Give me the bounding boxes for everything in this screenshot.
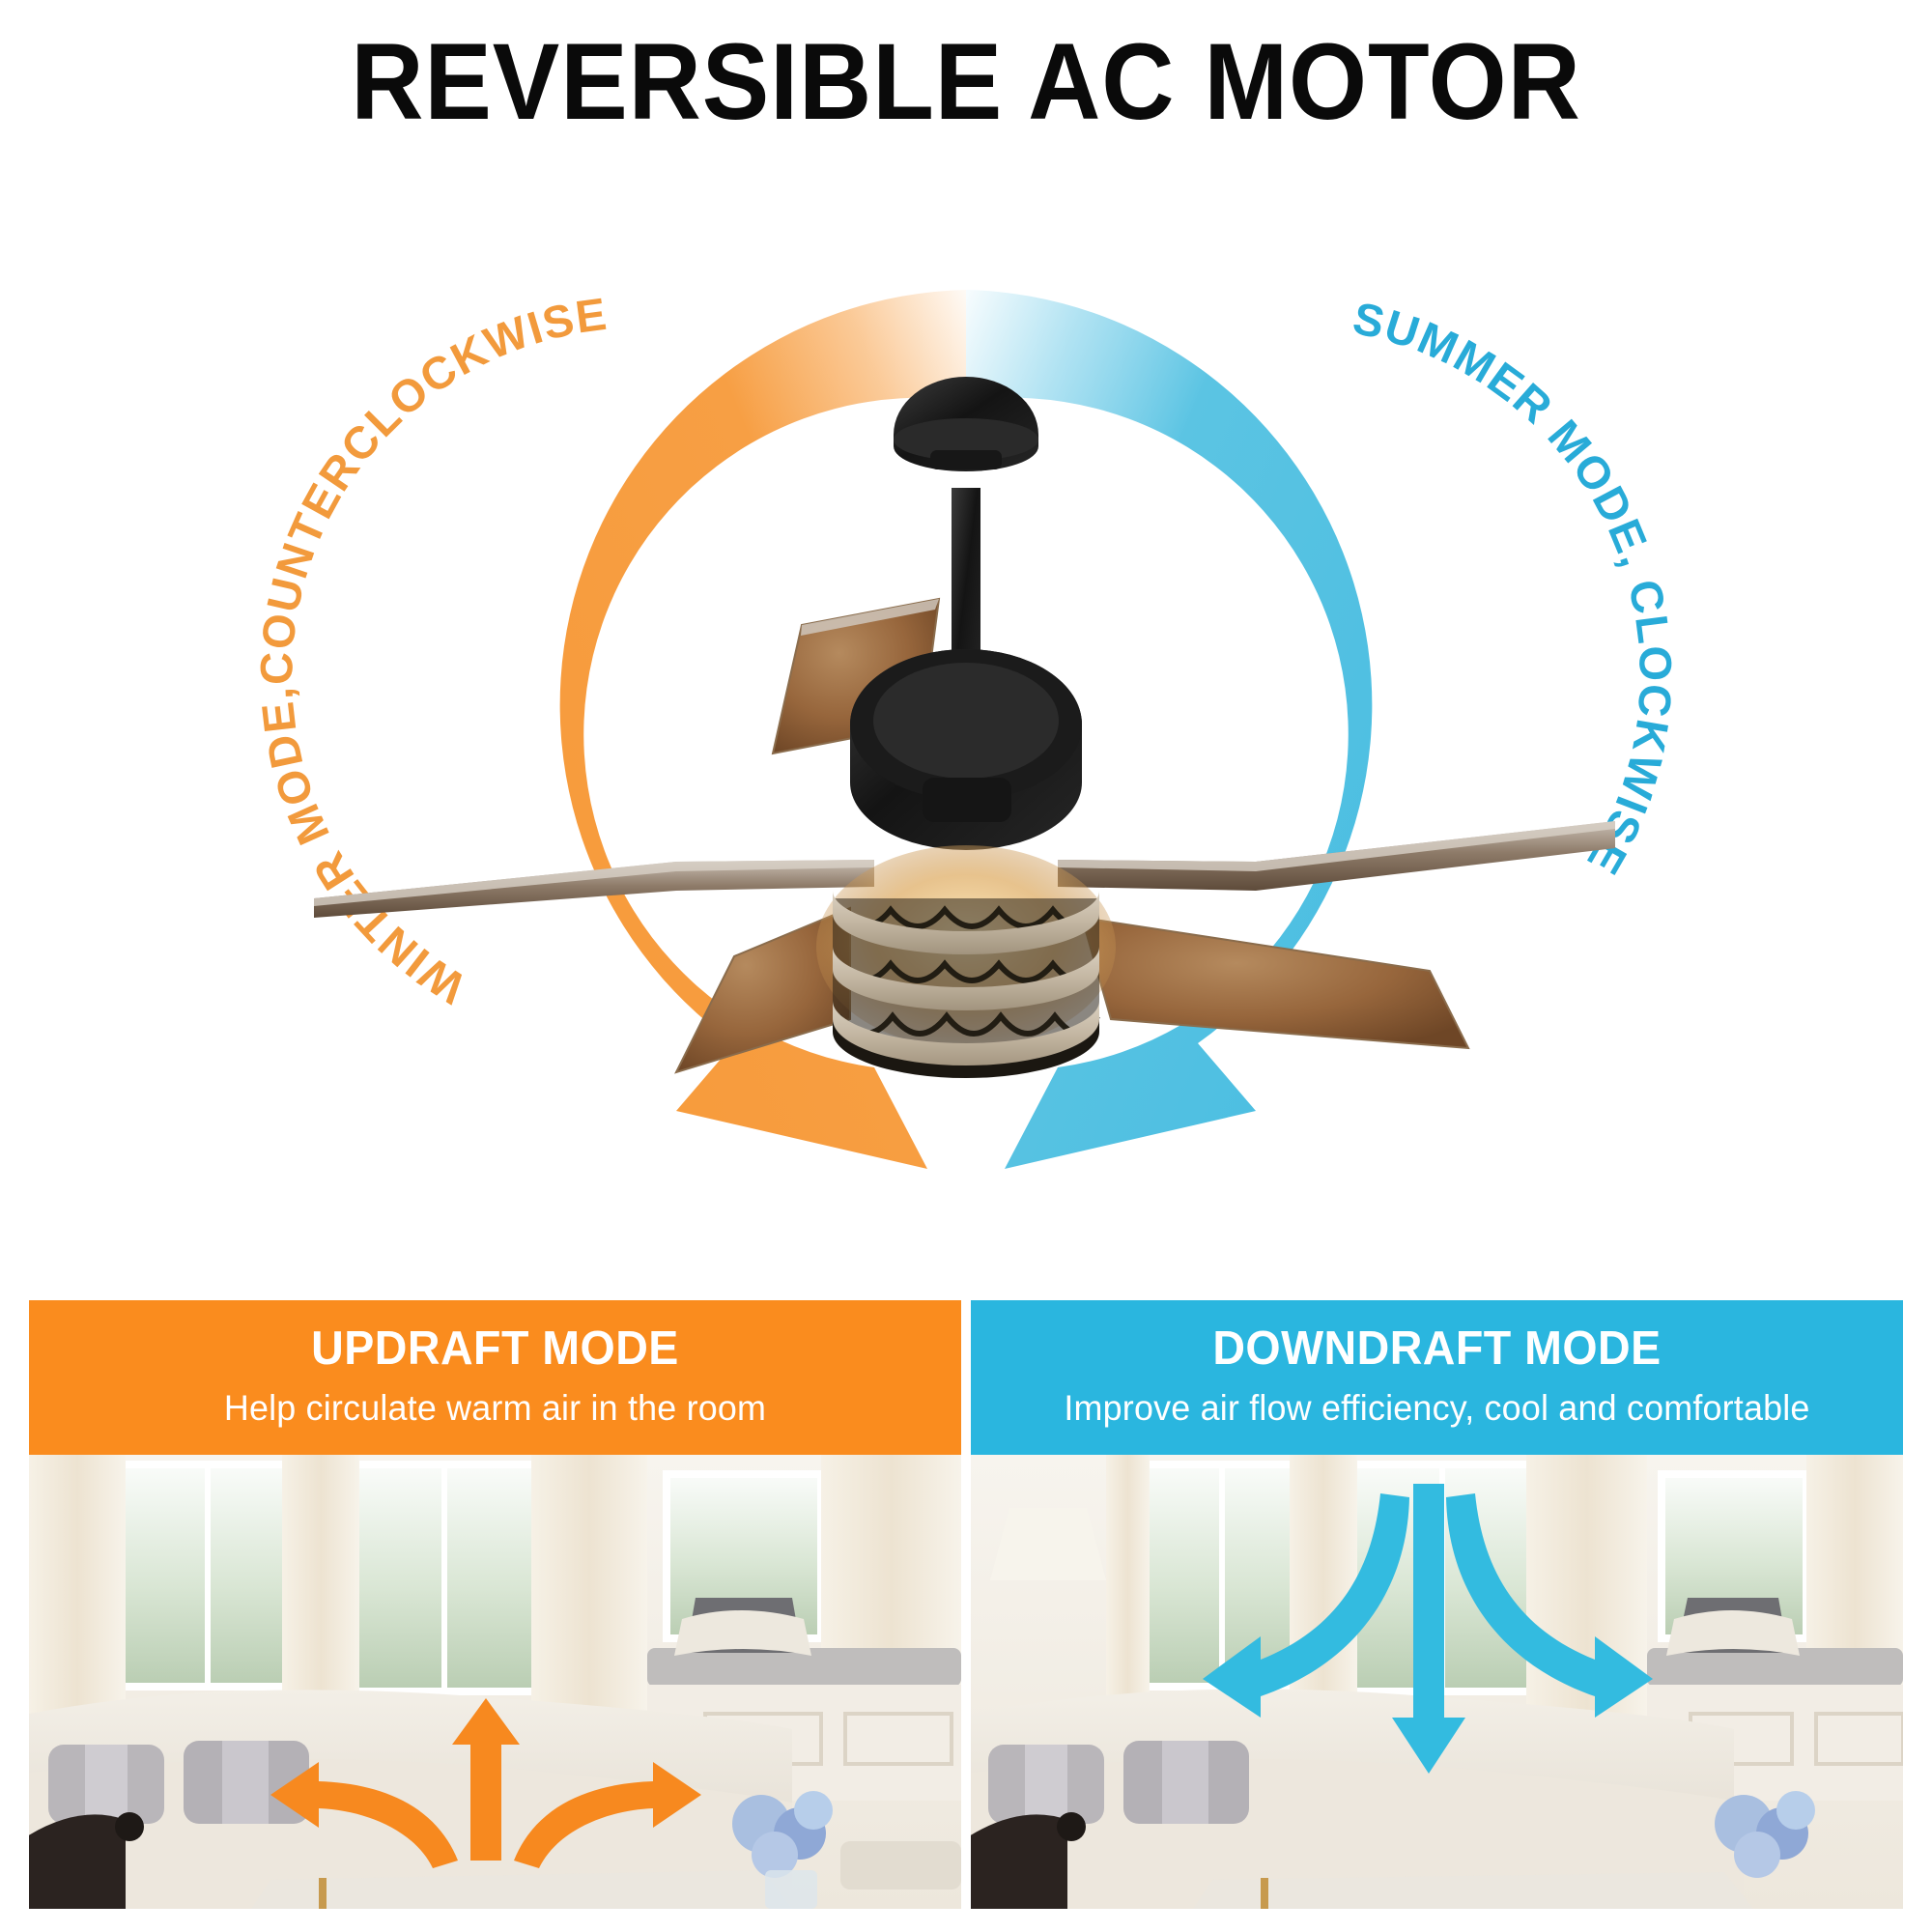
panel-downdraft-header: DOWNDRAFT MODE Improve air flow efficien…	[971, 1300, 1903, 1455]
room-photo-downdraft	[971, 1455, 1903, 1909]
rotation-arrows-graphic	[0, 145, 1932, 1285]
panel-downdraft: DOWNDRAFT MODE Improve air flow efficien…	[971, 1300, 1903, 1909]
panel-updraft-header: UPDRAFT MODE Help circulate warm air in …	[29, 1300, 961, 1455]
panel-updraft-subtitle: Help circulate warm air in the room	[43, 1389, 947, 1429]
panel-updraft: UPDRAFT MODE Help circulate warm air in …	[29, 1300, 961, 1909]
winter-mode-arc	[560, 290, 966, 1169]
panel-downdraft-subtitle: Improve air flow efficiency, cool and co…	[984, 1389, 1889, 1429]
room-photo-updraft	[29, 1455, 961, 1909]
summer-mode-arc	[966, 290, 1372, 1169]
page-title: REVERSIBLE AC MOTOR	[68, 25, 1864, 139]
reversible-motor-diagram: WINTER MODE,COUNTERCLOCKWISE SUMMER MODE…	[0, 145, 1932, 1285]
panel-downdraft-title: DOWNDRAFT MODE	[994, 1323, 1880, 1376]
panel-updraft-title: UPDRAFT MODE	[52, 1323, 938, 1376]
